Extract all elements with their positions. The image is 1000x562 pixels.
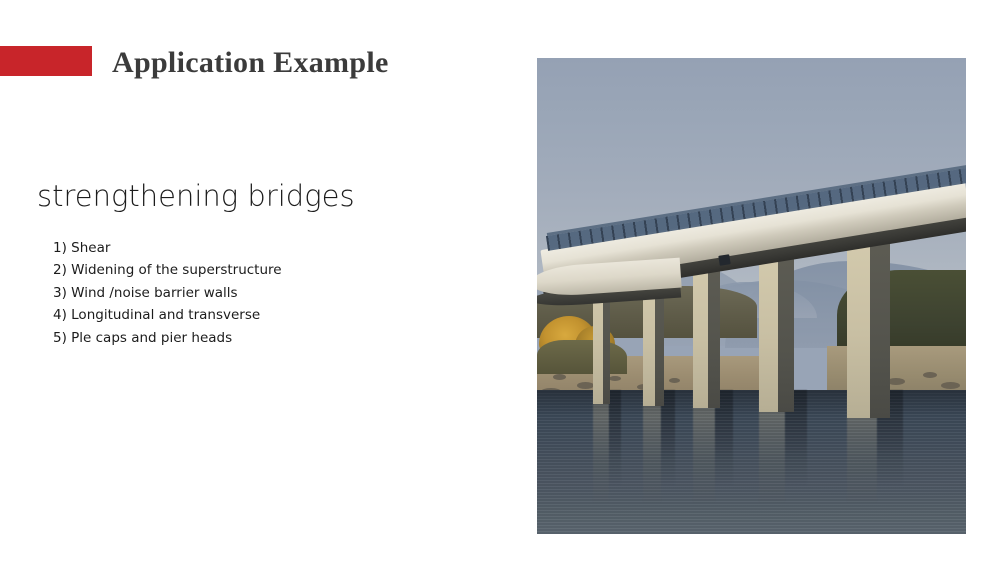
accent-bar — [0, 46, 92, 76]
list-item: 5) Ple caps and pier heads — [53, 327, 483, 349]
list-item: 4) Longitudinal and transverse — [53, 304, 483, 326]
bridge-photo-canvas — [537, 58, 966, 534]
list-item: 3) Wind /noise barrier walls — [53, 282, 483, 304]
vehicle-on-deck — [718, 254, 730, 266]
slide-canvas: Application Example strengthening bridge… — [0, 0, 1000, 562]
water-surface — [537, 390, 966, 534]
rock — [923, 372, 937, 378]
bridge-deck — [537, 188, 966, 338]
list-item: 1) Shear — [53, 237, 483, 259]
page-title: Application Example — [112, 44, 492, 84]
rock — [553, 374, 566, 380]
rock — [609, 376, 621, 381]
section-subheading: strengthening bridges — [37, 178, 477, 214]
list-item: 2) Widening of the superstructure — [53, 259, 483, 281]
rock — [669, 378, 680, 383]
application-list: 1) Shear 2) Widening of the superstructu… — [53, 237, 483, 349]
rock — [941, 382, 960, 389]
bridge-photo — [537, 58, 966, 534]
shrub — [537, 340, 627, 374]
rock — [577, 382, 594, 389]
